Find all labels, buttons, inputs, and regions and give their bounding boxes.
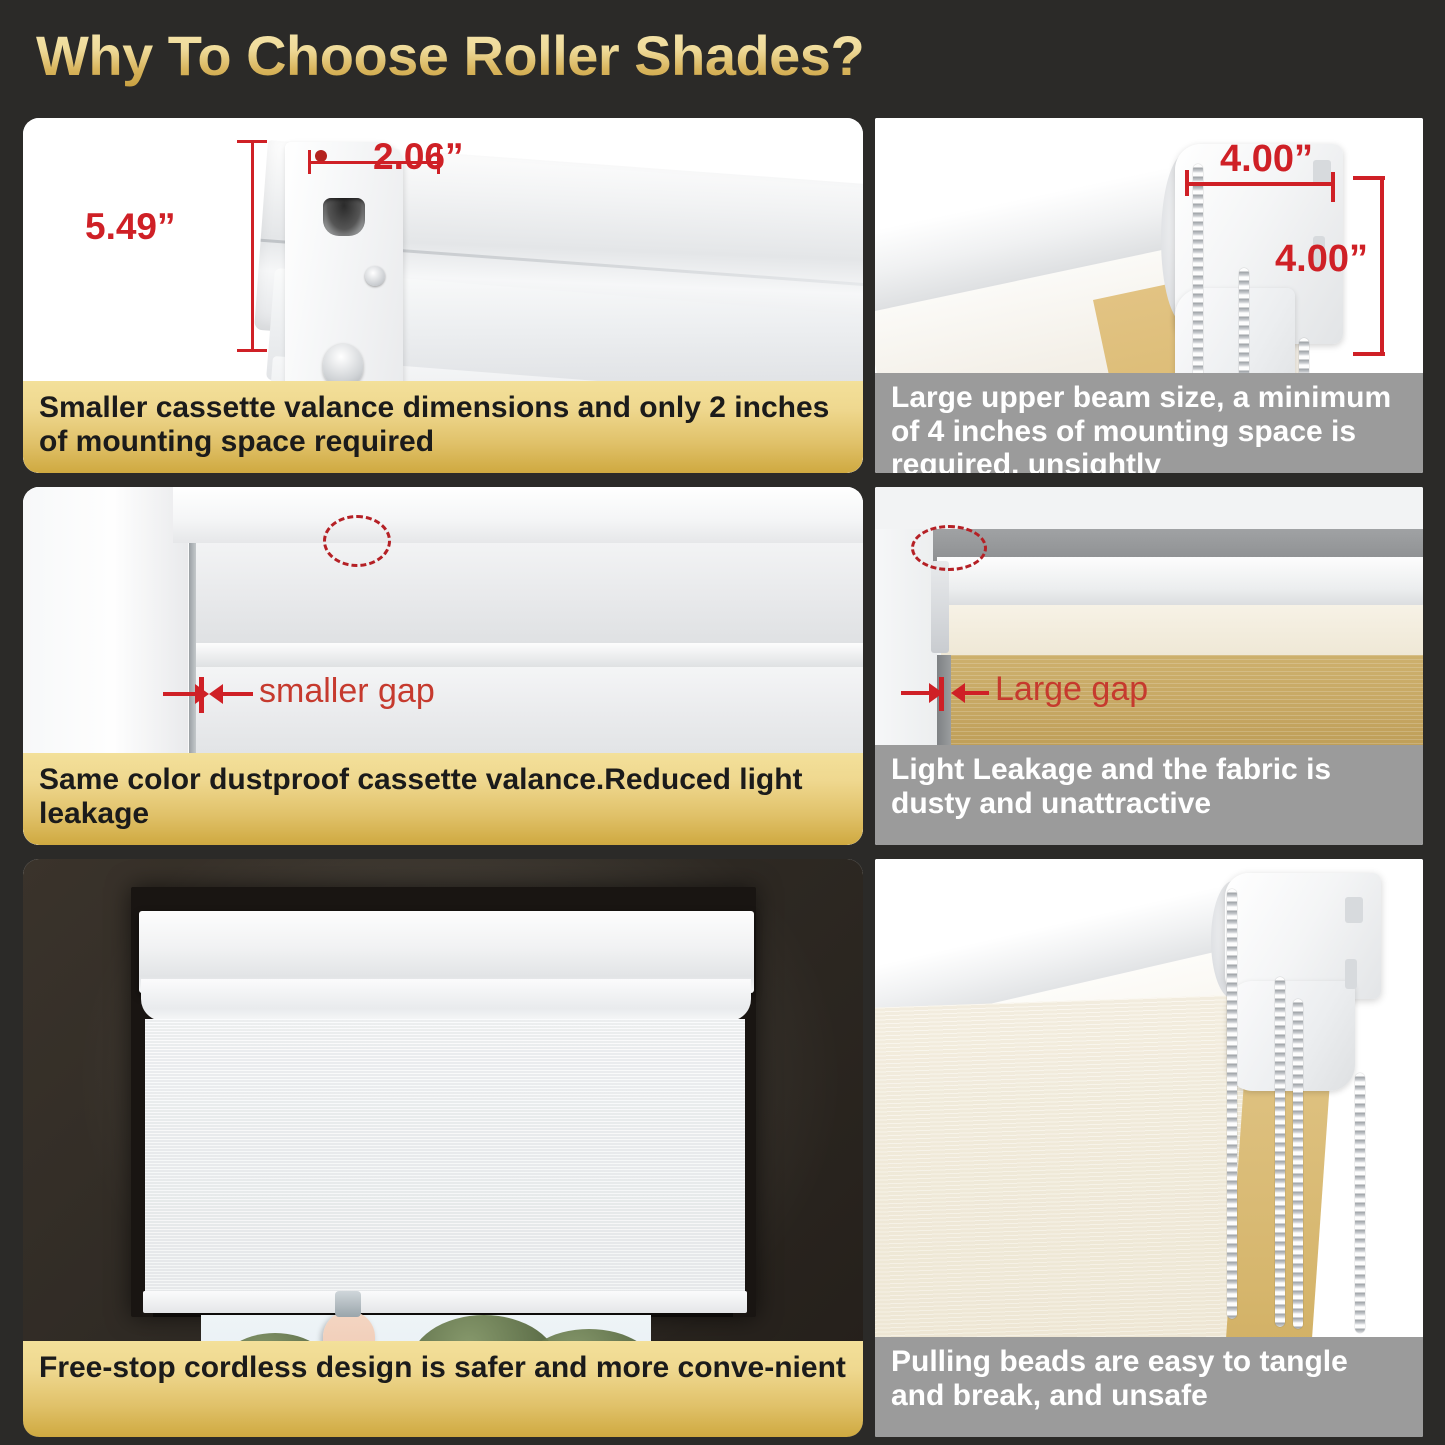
gap-arrow-head-left	[951, 683, 965, 703]
comparison-grid: 5.49” 2.06” Smaller cassette valance dim…	[0, 110, 1445, 1445]
panel-con-light-leakage: Large gap Light Leakage and the fabric i…	[875, 487, 1423, 845]
caption-con-pull-beads: Pulling beads are easy to tangle and bre…	[875, 1337, 1423, 1437]
gap-arrow-shaft-right	[163, 692, 197, 696]
gap-arrow-head-right	[929, 683, 943, 703]
height-dimension-label: 5.49”	[85, 206, 176, 248]
height-dimension-tick-bottom	[237, 349, 267, 352]
width-dimension-line	[1187, 182, 1335, 186]
highlight-ellipse	[323, 515, 391, 567]
height-dimension-tick-top	[237, 140, 267, 143]
panel-pro-cordless: Free-stop cordless design is safer and m…	[23, 859, 863, 1437]
panel-con-pull-beads: Pulling beads are easy to tangle and bre…	[875, 859, 1423, 1437]
screw-icon	[323, 344, 363, 386]
width-dimension-label: 4.00”	[1220, 138, 1313, 181]
bead-chain	[1293, 999, 1303, 1329]
height-dimension-tick-bottom	[1353, 352, 1385, 356]
gap-arrow-head-left	[209, 684, 223, 704]
gap-label-large: Large gap	[995, 670, 1148, 709]
gap-arrow-shaft-left	[219, 692, 253, 696]
page-title: Why To Choose Roller Shades?	[36, 23, 864, 88]
height-dimension-line	[251, 140, 254, 352]
height-dimension-label: 4.00”	[1275, 238, 1368, 281]
height-dimension-line	[1380, 176, 1384, 356]
pull-tab	[335, 1291, 361, 1317]
gap-arrow-head-right	[195, 684, 209, 704]
caption-con-light-leakage: Light Leakage and the fabric is dusty an…	[875, 745, 1423, 845]
page-header: Why To Choose Roller Shades?	[0, 0, 1445, 110]
gap-label-smaller: smaller gap	[259, 672, 435, 711]
caption-pro-cassette-size: Smaller cassette valance dimensions and …	[23, 381, 863, 473]
caption-pro-cordless: Free-stop cordless design is safer and m…	[23, 1341, 863, 1437]
width-dimension-tick-right	[1331, 172, 1335, 202]
screw-icon	[365, 266, 385, 286]
panel-con-large-beam: 4.00” 4.00” Large upper beam size, a min…	[875, 118, 1423, 473]
panel-pro-smaller-gap: smaller gap Same color dustproof cassett…	[23, 487, 863, 845]
caption-pro-smaller-gap: Same color dustproof cassette valance.Re…	[23, 753, 863, 845]
width-dimension-tick-left	[1185, 170, 1189, 196]
bead-chain	[1275, 977, 1285, 1327]
width-dimension-tick-left	[308, 150, 311, 174]
width-dimension-label: 2.06”	[373, 136, 464, 178]
panel-pro-cassette-size: 5.49” 2.06” Smaller cassette valance dim…	[23, 118, 863, 473]
valance-slot	[323, 198, 365, 236]
caption-con-large-beam: Large upper beam size, a minimum of 4 in…	[875, 373, 1423, 473]
highlight-ellipse	[911, 525, 987, 571]
bead-chain	[1227, 889, 1237, 1319]
gap-arrow-shaft-right	[901, 691, 931, 695]
height-dimension-tick-top	[1353, 176, 1385, 180]
bead-chain	[1355, 1073, 1365, 1333]
